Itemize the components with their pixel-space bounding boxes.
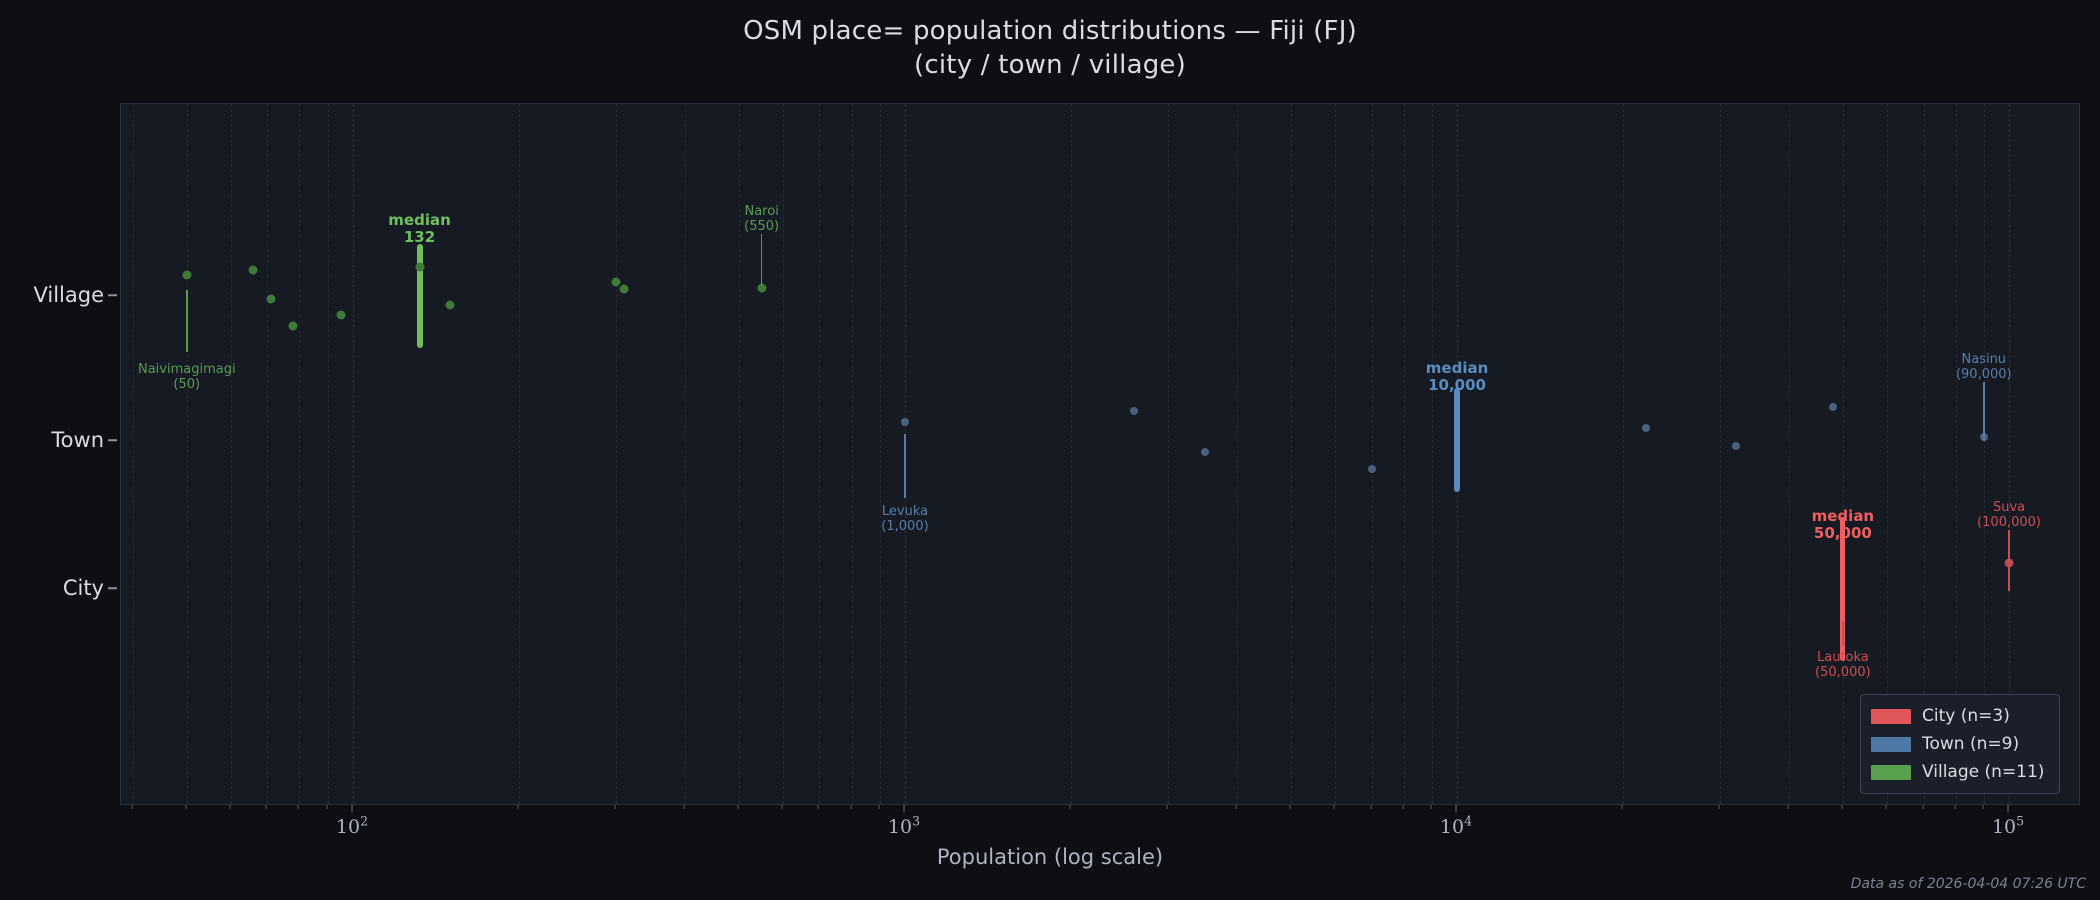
x-tick-label: 102 [336, 816, 368, 838]
x-tick-mark [229, 805, 230, 809]
x-tick-mark [850, 805, 851, 809]
x-tick-mark [781, 805, 782, 809]
scatter-point-town [1368, 465, 1376, 473]
x-tick-mark [737, 805, 738, 809]
x-tick-mark [2008, 805, 2009, 812]
x-tick-mark [1982, 805, 1983, 809]
median-label-city: median50,000 [1812, 508, 1874, 542]
median-bar-village [417, 244, 423, 348]
chart-title-line-1: OSM place= population distributions — Fi… [0, 14, 2100, 48]
gridline [685, 104, 687, 804]
annotation-leader-lautoka [1842, 621, 1844, 646]
x-tick-mark [1333, 805, 1334, 809]
x-tick-mark [1788, 805, 1789, 809]
median-value: 132 [388, 229, 450, 246]
gridline [519, 104, 521, 804]
legend-label-town: Town (n=9) [1922, 734, 2019, 754]
scatter-point-village [249, 266, 258, 275]
y-tick-label-city: City [0, 576, 104, 600]
legend-swatch-city [1871, 709, 1911, 724]
median-value: 10,000 [1426, 377, 1488, 394]
gridline [1789, 104, 1791, 804]
x-tick-mark [1841, 805, 1842, 809]
annotation-name-levuka: Levuka [881, 505, 928, 520]
x-tick-mark [132, 805, 133, 809]
gridline [328, 104, 330, 804]
data-timestamp: Data as of 2026-04-04 07:26 UTC [1851, 876, 2086, 892]
x-tick-mark [266, 805, 267, 809]
scatter-point-village [612, 278, 621, 287]
median-label-town: median10,000 [1426, 360, 1488, 394]
legend-label-village: Village (n=11) [1922, 762, 2044, 782]
gridline [1291, 104, 1293, 804]
annotation-leader-naivimagimagi [186, 290, 188, 352]
median-word: median [1812, 508, 1874, 525]
gridline [353, 104, 355, 804]
gridline [133, 104, 135, 804]
scatter-point-town [1642, 424, 1650, 432]
x-tick-mark [298, 805, 299, 809]
chart-legend: City (n=3)Town (n=9)Village (n=11) [1860, 694, 2060, 794]
annotation-label-suva: Suva(100,000) [1977, 501, 2041, 530]
x-tick-mark [1289, 805, 1290, 809]
x-tick-mark [185, 805, 186, 809]
annotation-label-nasinu: Nasinu(90,000) [1956, 353, 2012, 382]
annotation-value-naivimagimagi: (50) [138, 378, 236, 393]
legend-swatch-village [1871, 765, 1911, 780]
x-tick-mark [1922, 805, 1923, 809]
chart-title: OSM place= population distributions — Fi… [0, 14, 2100, 83]
y-tick-mark [108, 587, 117, 589]
scatter-point-town [1829, 403, 1837, 411]
annotation-label-lautoka: Lautoka(50,000) [1815, 651, 1871, 680]
gridline [1404, 104, 1406, 804]
x-tick-mark [1954, 805, 1955, 809]
gridline [231, 104, 233, 804]
annotation-label-levuka: Levuka(1,000) [881, 505, 928, 534]
y-tick-label-town: Town [0, 428, 104, 452]
median-word: median [1426, 360, 1488, 377]
x-tick-mark [903, 805, 904, 812]
scatter-point-village [289, 322, 298, 331]
gridline [187, 104, 189, 804]
annotation-value-naroi: (550) [744, 220, 779, 235]
median-word: median [388, 212, 450, 229]
annotation-value-lautoka: (50,000) [1815, 666, 1871, 681]
annotation-name-lautoka: Lautoka [1815, 651, 1871, 666]
scatter-point-village [182, 271, 191, 280]
x-tick-mark [615, 805, 616, 809]
annotation-name-naroi: Naroi [744, 205, 779, 220]
plot-inner: Naivimagimagi(50)Naroi(550)Levuka(1,000)… [121, 104, 2079, 804]
x-tick-mark [351, 805, 352, 812]
x-tick-mark [1719, 805, 1720, 809]
x-tick-mark [818, 805, 819, 809]
x-tick-mark [1885, 805, 1886, 809]
annotation-name-naivimagimagi: Naivimagimagi [138, 363, 236, 378]
legend-label-city: City (n=3) [1922, 706, 2010, 726]
gridline [1168, 104, 1170, 804]
gridline [616, 104, 618, 804]
gridline [1623, 104, 1625, 804]
median-label-village: median132 [388, 212, 450, 246]
legend-item-village[interactable]: Village (n=11) [1871, 758, 2049, 786]
y-tick-mark [108, 294, 117, 296]
chart-figure: OSM place= population distributions — Fi… [0, 0, 2100, 900]
x-tick-mark [326, 805, 327, 809]
x-tick-mark [1070, 805, 1071, 809]
x-tick-label: 103 [888, 816, 920, 838]
scatter-point-town [1130, 407, 1138, 415]
plot-area: Naivimagimagi(50)Naroi(550)Levuka(1,000)… [120, 103, 2080, 805]
gridline [852, 104, 854, 804]
x-tick-mark [1167, 805, 1168, 809]
scatter-point-village [446, 301, 455, 310]
scatter-point-village [620, 285, 629, 294]
x-tick-mark [1236, 805, 1237, 809]
gridline [1071, 104, 1073, 804]
chart-title-line-2: (city / town / village) [0, 48, 2100, 82]
annotation-name-suva: Suva [1977, 501, 2041, 516]
annotation-leader-levuka [904, 434, 906, 498]
annotation-leader-nasinu [1983, 382, 1985, 441]
scatter-point-town [1732, 442, 1740, 450]
x-axis-title: Population (log scale) [0, 845, 2100, 869]
y-tick-mark [108, 439, 117, 441]
gridline [819, 104, 821, 804]
annotation-value-levuka: (1,000) [881, 520, 928, 535]
scatter-point-village [336, 311, 345, 320]
x-tick-mark [1622, 805, 1623, 809]
gridline [880, 104, 882, 804]
annotation-value-nasinu: (90,000) [1956, 368, 2012, 383]
scatter-point-town [1201, 448, 1209, 456]
gridline [267, 104, 269, 804]
x-tick-mark [878, 805, 879, 809]
x-tick-mark [518, 805, 519, 809]
gridline [1335, 104, 1337, 804]
y-tick-label-village: Village [0, 283, 104, 307]
annotation-label-naroi: Naroi(550) [744, 205, 779, 234]
x-tick-label: 104 [1440, 816, 1472, 838]
x-tick-label: 105 [1992, 816, 2024, 838]
gridline [1720, 104, 1722, 804]
median-value: 50,000 [1812, 525, 1874, 542]
annotation-value-suva: (100,000) [1977, 516, 2041, 531]
gridline [739, 104, 741, 804]
scatter-point-village [415, 263, 424, 272]
legend-item-city[interactable]: City (n=3) [1871, 702, 2049, 730]
scatter-point-town [901, 418, 909, 426]
annotation-leader-suva [2008, 530, 2010, 591]
median-bar-town [1454, 388, 1460, 492]
x-tick-mark [1456, 805, 1457, 812]
legend-item-town[interactable]: Town (n=9) [1871, 730, 2049, 758]
x-tick-mark [1430, 805, 1431, 809]
x-tick-mark [684, 805, 685, 809]
annotation-leader-naroi [761, 234, 763, 286]
gridline [299, 104, 301, 804]
annotation-label-naivimagimagi: Naivimagimagi(50) [138, 363, 236, 392]
scatter-point-village [266, 295, 275, 304]
annotation-name-nasinu: Nasinu [1956, 353, 2012, 368]
legend-swatch-town [1871, 737, 1911, 752]
gridline [1843, 104, 1845, 804]
gridline [1432, 104, 1434, 804]
gridline [1237, 104, 1239, 804]
x-tick-mark [1370, 805, 1371, 809]
gridline [783, 104, 785, 804]
gridline [1372, 104, 1374, 804]
x-tick-mark [1402, 805, 1403, 809]
